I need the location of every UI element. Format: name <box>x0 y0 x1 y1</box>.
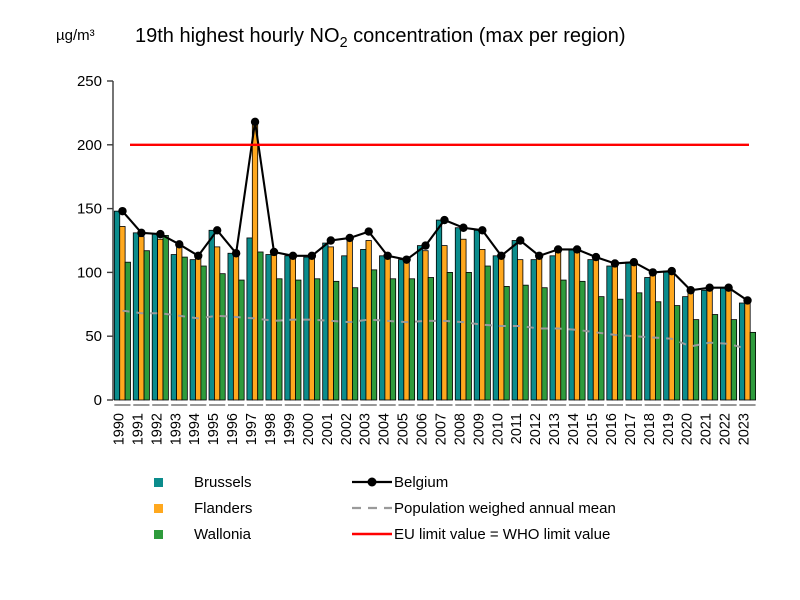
x-axis-tick-label: 2011 <box>509 413 525 444</box>
bar <box>480 249 485 400</box>
bar <box>228 253 233 400</box>
bar <box>574 252 579 400</box>
bar <box>461 239 466 400</box>
bar <box>702 290 707 400</box>
bar <box>512 241 517 401</box>
red-line-icon <box>350 524 394 544</box>
x-axis-tick-label: 2007 <box>433 413 449 445</box>
belgium-data-point <box>421 241 429 249</box>
bar <box>163 235 168 400</box>
bar <box>607 266 612 400</box>
bar <box>309 256 314 400</box>
bar <box>485 266 490 400</box>
legend-label-flanders: Flanders <box>194 501 252 516</box>
bar <box>114 211 119 400</box>
bar <box>531 260 536 400</box>
x-axis-tick-label: 2018 <box>642 413 658 445</box>
bar <box>380 256 385 400</box>
x-axis-tick-label: 2004 <box>377 413 393 445</box>
bar <box>158 239 163 400</box>
x-axis-tick-label: 2023 <box>737 413 753 445</box>
x-axis-tick-label: 2002 <box>339 413 355 445</box>
bar <box>593 260 598 400</box>
belgium-data-point <box>743 296 751 304</box>
bar <box>398 260 403 400</box>
bar <box>120 226 125 400</box>
x-axis-tick-label: 2008 <box>452 413 468 445</box>
bar <box>144 251 149 400</box>
bar <box>580 281 585 400</box>
bar <box>233 256 238 400</box>
x-axis-tick-label: 1997 <box>244 413 260 445</box>
belgium-data-point <box>156 230 164 238</box>
bar <box>361 249 366 400</box>
belgium-data-point <box>649 268 657 276</box>
belgium-data-point <box>346 234 354 242</box>
bar <box>409 279 414 400</box>
bar <box>190 260 195 400</box>
x-axis-tick-label: 2022 <box>718 413 734 445</box>
bar <box>645 278 650 401</box>
bar <box>550 256 555 400</box>
y-axis-tick-label: 200 <box>77 137 102 154</box>
bar <box>669 272 674 400</box>
bar <box>296 280 301 400</box>
x-axis-tick-label: 2020 <box>680 413 696 445</box>
legend-column-lines: Belgium Population weighed annual mean E… <box>350 470 616 548</box>
bar <box>474 230 479 400</box>
belgium-data-point <box>554 245 562 253</box>
belgium-data-point <box>516 236 524 244</box>
x-axis-tick-label: 2021 <box>699 413 715 445</box>
bar <box>277 279 282 400</box>
bar <box>352 288 357 400</box>
bar <box>328 247 333 400</box>
bar <box>315 279 320 400</box>
x-axis-tick-label: 1994 <box>187 413 203 445</box>
x-axis-tick-label: 1990 <box>111 413 127 445</box>
bar <box>271 252 276 400</box>
x-axis-tick-label: 1998 <box>263 413 279 445</box>
bar <box>650 272 655 400</box>
belgium-data-point <box>118 207 126 215</box>
bar <box>726 290 731 400</box>
bar <box>739 303 744 400</box>
bar <box>220 274 225 400</box>
belgium-data-point <box>175 240 183 248</box>
bar <box>342 256 347 400</box>
bar <box>239 280 244 400</box>
bar <box>258 252 263 400</box>
x-axis-tick-label: 2000 <box>301 413 317 445</box>
belgium-data-point <box>668 267 676 275</box>
bar <box>347 238 352 400</box>
x-axis-tick-label: 2017 <box>623 413 639 445</box>
belgium-data-point <box>630 258 638 266</box>
x-axis-tick-label: 1995 <box>206 413 222 445</box>
y-axis-tick-label: 250 <box>77 73 102 90</box>
bar <box>626 262 631 400</box>
bar <box>209 230 214 400</box>
bar <box>674 306 679 400</box>
belgium-data-point <box>592 253 600 261</box>
belgium-data-point <box>440 216 448 224</box>
bar <box>201 266 206 400</box>
belgium-data-point <box>611 259 619 267</box>
x-axis-tick-label: 1991 <box>130 413 146 445</box>
bar <box>712 315 717 400</box>
belgium-data-point <box>327 236 335 244</box>
belgium-data-point <box>137 229 145 237</box>
y-axis-tick-label: 0 <box>94 392 102 409</box>
brussels-swatch-icon <box>150 472 194 492</box>
x-axis-tick-label: 2006 <box>415 413 431 445</box>
legend-item-belgium: Belgium <box>350 470 616 494</box>
bar <box>442 246 447 400</box>
bar <box>731 320 736 400</box>
bar <box>466 272 471 400</box>
belgium-data-point <box>724 284 732 292</box>
bar <box>504 286 509 400</box>
belgium-data-point <box>383 252 391 260</box>
bar <box>195 256 200 400</box>
chart-legend: Brussels Flanders Wallonia Belgium <box>150 470 770 550</box>
bar <box>152 234 157 400</box>
y-axis-tick-label: 50 <box>85 328 102 345</box>
x-axis-tick-label: 2016 <box>604 413 620 445</box>
bar <box>177 244 182 400</box>
belgium-line-point-icon <box>350 472 394 492</box>
plot-area: 0501001502002501990199119921993199419951… <box>0 0 800 470</box>
x-axis-tick-label: 2005 <box>396 413 412 445</box>
y-axis-tick-label: 150 <box>77 201 102 218</box>
belgium-data-point <box>232 249 240 257</box>
belgium-data-point <box>573 245 581 253</box>
x-axis-tick-label: 1993 <box>168 413 184 445</box>
legend-item-population-mean: Population weighed annual mean <box>350 496 616 520</box>
belgium-data-point <box>194 252 202 260</box>
bar <box>599 297 604 400</box>
belgium-data-point <box>213 226 221 234</box>
x-axis-tick-label: 2019 <box>661 413 677 445</box>
belgium-data-point <box>535 252 543 260</box>
bar <box>683 297 688 400</box>
bar <box>517 260 522 400</box>
belgium-data-point <box>251 118 259 126</box>
bar <box>618 299 623 400</box>
bar <box>182 257 187 400</box>
belgium-data-point <box>497 252 505 260</box>
bar <box>750 332 755 400</box>
y-axis-tick-label: 100 <box>77 264 102 281</box>
x-axis-tick-label: 2010 <box>490 413 506 445</box>
bar <box>404 262 409 400</box>
x-axis-tick-label: 1999 <box>282 413 298 445</box>
bar <box>561 280 566 400</box>
bar <box>285 256 290 400</box>
bar <box>631 265 636 400</box>
belgium-data-point <box>365 227 373 235</box>
x-axis-tick-label: 2001 <box>320 413 336 445</box>
bar <box>366 241 371 401</box>
bar <box>371 270 376 400</box>
legend-label-belgium: Belgium <box>394 475 448 490</box>
x-axis-tick-label: 1992 <box>149 413 165 445</box>
belgium-data-point <box>289 252 297 260</box>
x-axis-tick-label: 2014 <box>566 413 582 445</box>
bar <box>423 251 428 400</box>
belgium-data-point <box>308 252 316 260</box>
bar <box>664 271 669 400</box>
bar <box>569 249 574 400</box>
bar <box>499 257 504 400</box>
dashed-line-icon <box>350 498 394 518</box>
belgium-data-point <box>270 248 278 256</box>
x-axis-tick-label: 2015 <box>585 413 601 445</box>
x-axis-tick-label: 2013 <box>547 413 563 445</box>
legend-label-wallonia: Wallonia <box>194 527 251 542</box>
bar <box>323 243 328 400</box>
belgium-data-point <box>459 224 467 232</box>
legend-column-regions: Brussels Flanders Wallonia <box>150 470 252 548</box>
bar <box>745 300 750 400</box>
x-axis-tick-label: 2012 <box>528 413 544 445</box>
bar <box>588 260 593 400</box>
legend-label-eu-limit: EU limit value = WHO limit value <box>394 527 610 542</box>
bar <box>612 263 617 400</box>
bar <box>493 256 498 400</box>
flanders-swatch-icon <box>150 498 194 518</box>
legend-item-flanders: Flanders <box>150 496 252 520</box>
legend-item-brussels: Brussels <box>150 470 252 494</box>
bar <box>542 288 547 400</box>
bar <box>125 262 130 400</box>
bar <box>266 255 271 400</box>
bar <box>428 278 433 401</box>
bar <box>455 228 460 400</box>
bar <box>214 247 219 400</box>
x-axis-tick-label: 2009 <box>471 413 487 445</box>
chart-container: µg/m³ 19th highest hourly NO2 concentrat… <box>0 0 800 600</box>
bar <box>290 258 295 400</box>
bar <box>139 237 144 400</box>
belgium-data-point <box>687 286 695 294</box>
belgium-data-point <box>705 284 713 292</box>
legend-label-population-mean: Population weighed annual mean <box>394 501 616 516</box>
bar <box>523 285 528 400</box>
bar <box>555 251 560 400</box>
bar <box>436 220 441 400</box>
legend-label-brussels: Brussels <box>194 475 252 490</box>
bar <box>133 233 138 400</box>
wallonia-swatch-icon <box>150 524 194 544</box>
bar <box>252 122 257 400</box>
bar <box>447 272 452 400</box>
bar <box>385 256 390 400</box>
bar <box>417 246 422 400</box>
x-axis-tick-label: 2003 <box>358 413 374 445</box>
bar <box>171 255 176 400</box>
bar <box>693 320 698 400</box>
bar <box>637 293 642 400</box>
legend-item-eu-limit: EU limit value = WHO limit value <box>350 522 616 546</box>
bar <box>390 279 395 400</box>
bar <box>304 257 309 400</box>
bar <box>333 281 338 400</box>
belgium-data-point <box>402 255 410 263</box>
bar <box>655 302 660 400</box>
belgium-data-point <box>478 226 486 234</box>
legend-item-wallonia: Wallonia <box>150 522 252 546</box>
x-axis-tick-label: 1996 <box>225 413 241 445</box>
